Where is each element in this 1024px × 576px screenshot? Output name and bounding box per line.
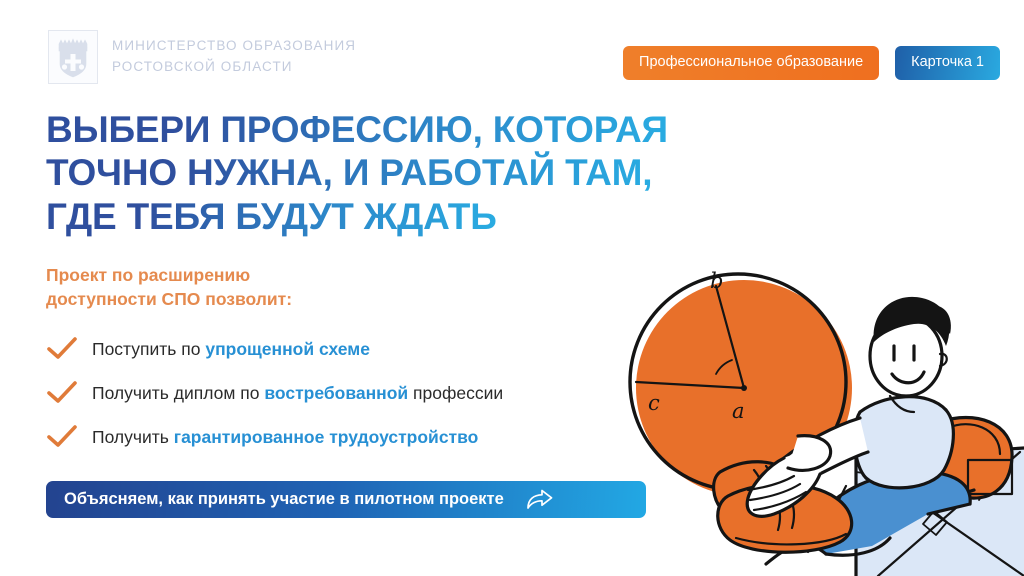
check-icon (46, 336, 78, 362)
bullet-2-highlight: востребованной (264, 383, 408, 403)
headline-line-1: ВЫБЕРИ ПРОФЕССИЮ, КОТОРАЯ (46, 108, 668, 151)
bullet-2-plain-after: профессии (408, 383, 503, 403)
headline-line-3: ГДЕ ТЕБЯ БУДУТ ЖДАТЬ (46, 195, 497, 238)
bullet-3-plain-before: Получить (92, 427, 174, 447)
badge-category[interactable]: Профессиональное образование (623, 46, 879, 80)
check-icon (46, 380, 78, 406)
bullet-1-highlight: упрощенной схеме (205, 339, 370, 359)
list-item-label: Получить гарантированное трудоустройство (92, 427, 478, 448)
infographic-card: МИНИСТЕРСТВО ОБРАЗОВАНИЯ РОСТОВСКОЙ ОБЛА… (0, 0, 1024, 576)
bullet-3-highlight: гарантированное трудоустройство (174, 427, 479, 447)
subtitle: Проект по расширению доступности СПО поз… (46, 263, 466, 311)
bullet-1-plain-before: Поступить по (92, 339, 205, 359)
list-item: Поступить по упрощенной схеме (46, 327, 666, 371)
headline-line-2: ТОЧНО НУЖНА, И РАБОТАЙ ТАМ, (46, 151, 652, 194)
check-icon (46, 424, 78, 450)
share-arrow-icon (524, 488, 554, 512)
list-item-label: Поступить по упрощенной схеме (92, 339, 370, 360)
bullet-2-plain-before: Получить диплом по (92, 383, 264, 403)
ministry-name-text: МИНИСТЕРСТВО ОБРАЗОВАНИЯ РОСТОВСКОЙ ОБЛА… (112, 36, 356, 78)
circle-label-a: a (732, 399, 745, 423)
circle-label-b: b (710, 269, 723, 293)
cta-banner[interactable]: Объясняем, как принять участие в пилотно… (46, 481, 646, 518)
ministry-logo: МИНИСТЕРСТВО ОБРАЗОВАНИЯ РОСТОВСКОЙ ОБЛА… (48, 30, 356, 84)
badge-row: Профессиональное образование Карточка 1 (623, 46, 1000, 80)
badge-card-number[interactable]: Карточка 1 (895, 46, 1000, 80)
student-with-geometry-illustration: .ink { stroke:#141414; stroke-width:3.2;… (628, 246, 1024, 576)
list-item-label: Получить диплом по востребованной профес… (92, 383, 503, 404)
page-title: ВЫБЕРИ ПРОФЕССИЮ, КОТОРАЯ ТОЧНО НУЖНА, И… (46, 108, 686, 238)
cta-banner-label: Объясняем, как принять участие в пилотно… (64, 491, 504, 508)
rostov-coat-of-arms-icon (48, 30, 98, 84)
list-item: Получить гарантированное трудоустройство (46, 415, 666, 459)
circle-label-c: c (648, 391, 660, 415)
benefits-list: Поступить по упрощенной схеме Получить д… (46, 327, 666, 459)
list-item: Получить диплом по востребованной профес… (46, 371, 666, 415)
head (870, 297, 951, 396)
